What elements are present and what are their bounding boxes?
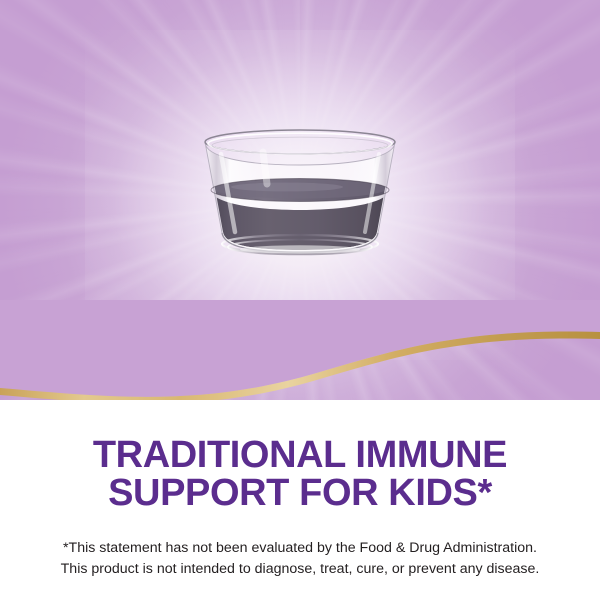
headline: TRADITIONAL IMMUNE SUPPORT FOR KIDS* bbox=[0, 436, 600, 512]
product-marketing-image: TRADITIONAL IMMUNE SUPPORT FOR KIDS* *Th… bbox=[0, 0, 600, 600]
fda-disclaimer: *This statement has not been evaluated b… bbox=[0, 538, 600, 580]
copy-block: TRADITIONAL IMMUNE SUPPORT FOR KIDS* *Th… bbox=[0, 400, 600, 600]
disclaimer-line-2: This product is not intended to diagnose… bbox=[0, 559, 600, 580]
disclaimer-line-1: *This statement has not been evaluated b… bbox=[0, 538, 600, 559]
headline-line-2: SUPPORT FOR KIDS* bbox=[0, 474, 600, 512]
glass-bowl-product-image bbox=[195, 128, 405, 263]
headline-line-1: TRADITIONAL IMMUNE bbox=[0, 436, 600, 474]
